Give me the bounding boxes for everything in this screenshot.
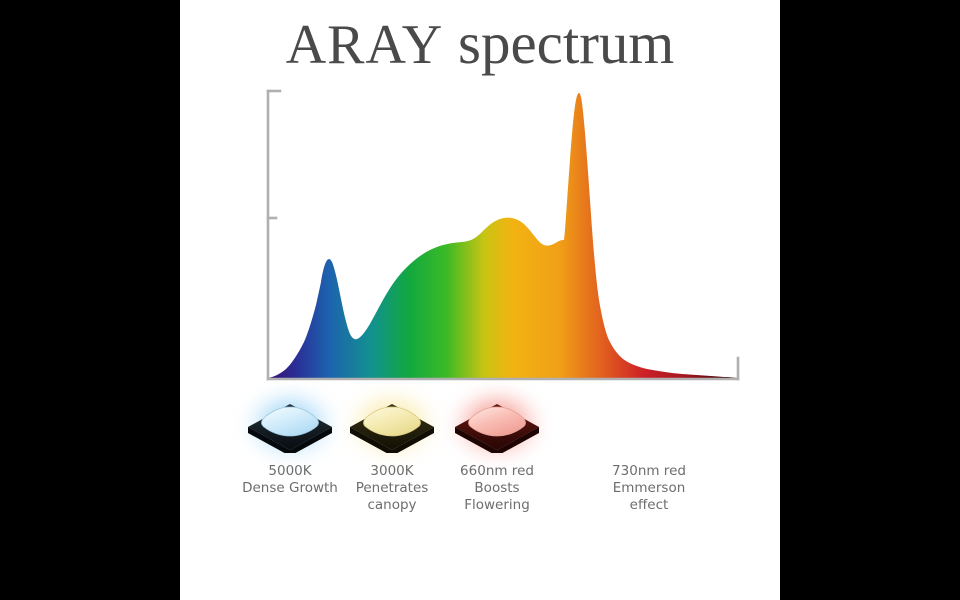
letterbox-bar-left [0,0,180,600]
led-caption-line: Flowering [433,497,561,514]
led-caption-line: Boosts [433,480,561,497]
screenshot-root: ARAY spectrum [0,0,960,600]
spectrum-area-group [268,93,738,378]
led-caption-line: Emmerson [585,480,713,497]
led-caption-line: 730nm red [585,463,713,480]
led-caption-660nm: 660nm red Boosts Flowering [433,463,561,514]
led-chip-5000k [240,395,340,457]
led-chip-730nm-placeholder [599,395,699,457]
led-body-660nm [451,399,543,453]
letterbox-bar-right [780,0,960,600]
spectrum-chart-svg [180,0,780,400]
led-caption-730nm: 730nm red Emmerson effect [585,463,713,514]
content-panel: ARAY spectrum [180,0,780,600]
led-body-3000k [346,399,438,453]
led-caption-line: effect [585,497,713,514]
spectrum-chart [180,0,780,400]
spectrum-area-path [268,93,738,378]
led-caption-line: 660nm red [433,463,561,480]
led-chip-660nm [447,395,547,457]
led-item-730nm[interactable]: 730nm red Emmerson effect [585,395,713,514]
led-item-660nm[interactable]: 660nm red Boosts Flowering [433,395,561,514]
led-legend-row: 5000K Dense Growth [180,395,780,535]
led-chip-3000k [342,395,442,457]
led-body-5000k [244,399,336,453]
